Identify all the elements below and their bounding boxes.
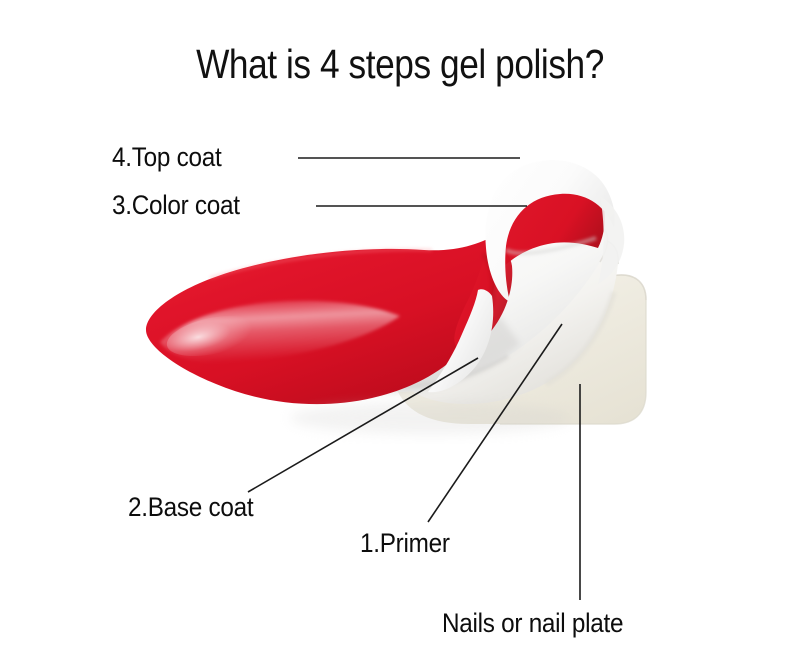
label-color-coat: 3.Color coat [112,190,240,220]
label-primer: 1.Primer [360,528,450,558]
label-top-coat: 4.Top coat [112,142,221,172]
label-base-coat: 2.Base coat [128,492,253,522]
diagram-page: What is 4 steps gel polish? [0,0,800,669]
label-nail-plate: Nails or nail plate [442,608,623,638]
leader-line-base-coat [248,358,478,492]
leader-line-primer [428,324,562,522]
leader-lines [0,0,800,669]
